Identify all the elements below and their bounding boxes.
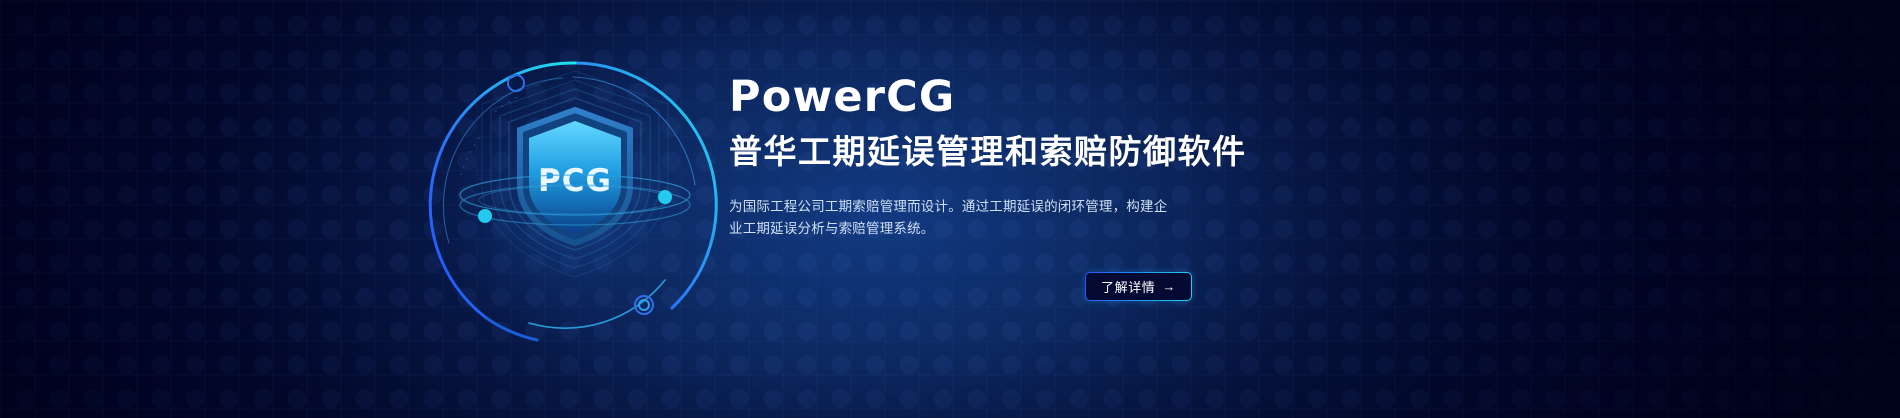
product-emblem: PCG bbox=[425, 55, 725, 355]
cta-container: 了解详情 → bbox=[1085, 272, 1192, 301]
hero-banner: PCG PowerCG 普华工期延误管理和索赔防御软件 为国际工程公司工期索赔管… bbox=[0, 0, 1900, 418]
learn-more-label: 了解详情 bbox=[1101, 277, 1155, 296]
arrow-right-icon: → bbox=[1162, 280, 1176, 293]
product-brand-title: PowerCG bbox=[729, 72, 1489, 122]
product-headline: 普华工期延误管理和索赔防御软件 bbox=[729, 130, 1489, 174]
hero-copy: PowerCG 普华工期延误管理和索赔防御软件 为国际工程公司工期索赔管理而设计… bbox=[729, 72, 1489, 240]
learn-more-button[interactable]: 了解详情 → bbox=[1085, 272, 1192, 301]
product-description: 为国际工程公司工期索赔管理而设计。通过工期延误的闭环管理，构建企业工期延误分析与… bbox=[729, 196, 1181, 240]
emblem-text: PCG bbox=[538, 163, 612, 199]
